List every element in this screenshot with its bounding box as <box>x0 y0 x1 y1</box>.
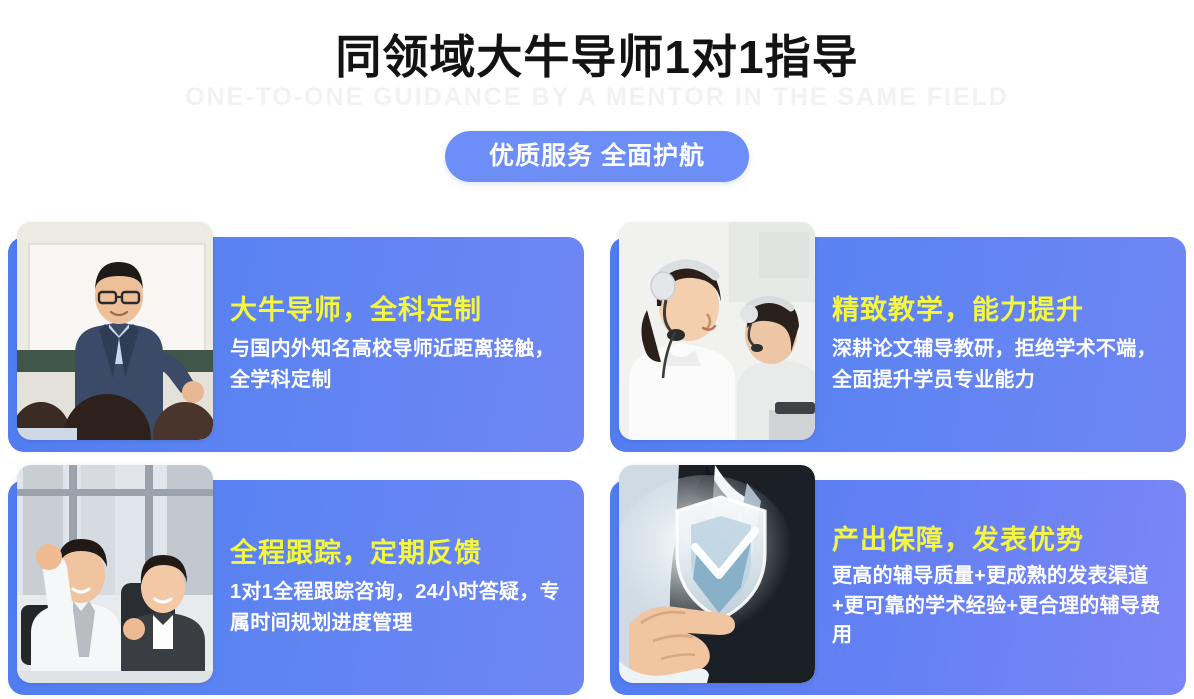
card-body: 更高的辅导质量+更成熟的发表渠道+更可靠的学术经验+更合理的辅导费用 <box>832 562 1170 651</box>
card-title: 全程跟踪，定期反馈 <box>230 537 568 571</box>
feature-card-mentor[interactable]: 大牛导师，全科定制 与国内外知名高校导师近距离接触，全学科定制 <box>8 237 584 452</box>
card-body: 1对1全程跟踪咨询，24小时答疑，专属时间规划进度管理 <box>230 577 568 638</box>
page-subtitle: ONE-TO-ONE GUIDANCE BY A MENTOR IN THE S… <box>0 85 1194 110</box>
feature-card-grid: 大牛导师，全科定制 与国内外知名高校导师近距离接触，全学科定制 <box>0 200 1194 699</box>
feature-card-tracking[interactable]: 全程跟踪，定期反馈 1对1全程跟踪咨询，24小时答疑，专属时间规划进度管理 <box>8 480 584 695</box>
card-body: 深耕论文辅导教研，拒绝学术不端，全面提升学员专业能力 <box>832 334 1170 395</box>
promo-page: 同领域大牛导师1对1指导 ONE-TO-ONE GUIDANCE BY A ME… <box>0 0 1194 699</box>
card-text-block: 精致教学，能力提升 深耕论文辅导教研，拒绝学术不端，全面提升学员专业能力 <box>832 237 1170 452</box>
call-center-headset-staff-photo <box>619 222 815 440</box>
feature-card-teaching[interactable]: 精致教学，能力提升 深耕论文辅导教研，拒绝学术不端，全面提升学员专业能力 <box>610 237 1186 452</box>
card-title: 大牛导师，全科定制 <box>230 294 568 328</box>
page-header: 同领域大牛导师1对1指导 ONE-TO-ONE GUIDANCE BY A ME… <box>0 0 1194 200</box>
card-text-block: 全程跟踪，定期反馈 1对1全程跟踪咨询，24小时答疑，专属时间规划进度管理 <box>230 480 568 695</box>
teacher-in-classroom-photo <box>17 222 213 440</box>
hand-holding-shield-checkmark-photo <box>619 465 815 683</box>
cheering-office-team-photo <box>17 465 213 683</box>
card-body: 与国内外知名高校导师近距离接触，全学科定制 <box>230 334 568 395</box>
page-title: 同领域大牛导师1对1指导 <box>0 30 1194 84</box>
card-title: 产出保障，发表优势 <box>832 524 1170 558</box>
card-text-block: 产出保障，发表优势 更高的辅导质量+更成熟的发表渠道+更可靠的学术经验+更合理的… <box>832 480 1170 695</box>
card-title: 精致教学，能力提升 <box>832 294 1170 328</box>
feature-card-output[interactable]: 产出保障，发表优势 更高的辅导质量+更成熟的发表渠道+更可靠的学术经验+更合理的… <box>610 480 1186 695</box>
service-badge: 优质服务 全面护航 <box>445 131 749 182</box>
card-text-block: 大牛导师，全科定制 与国内外知名高校导师近距离接触，全学科定制 <box>230 237 568 452</box>
